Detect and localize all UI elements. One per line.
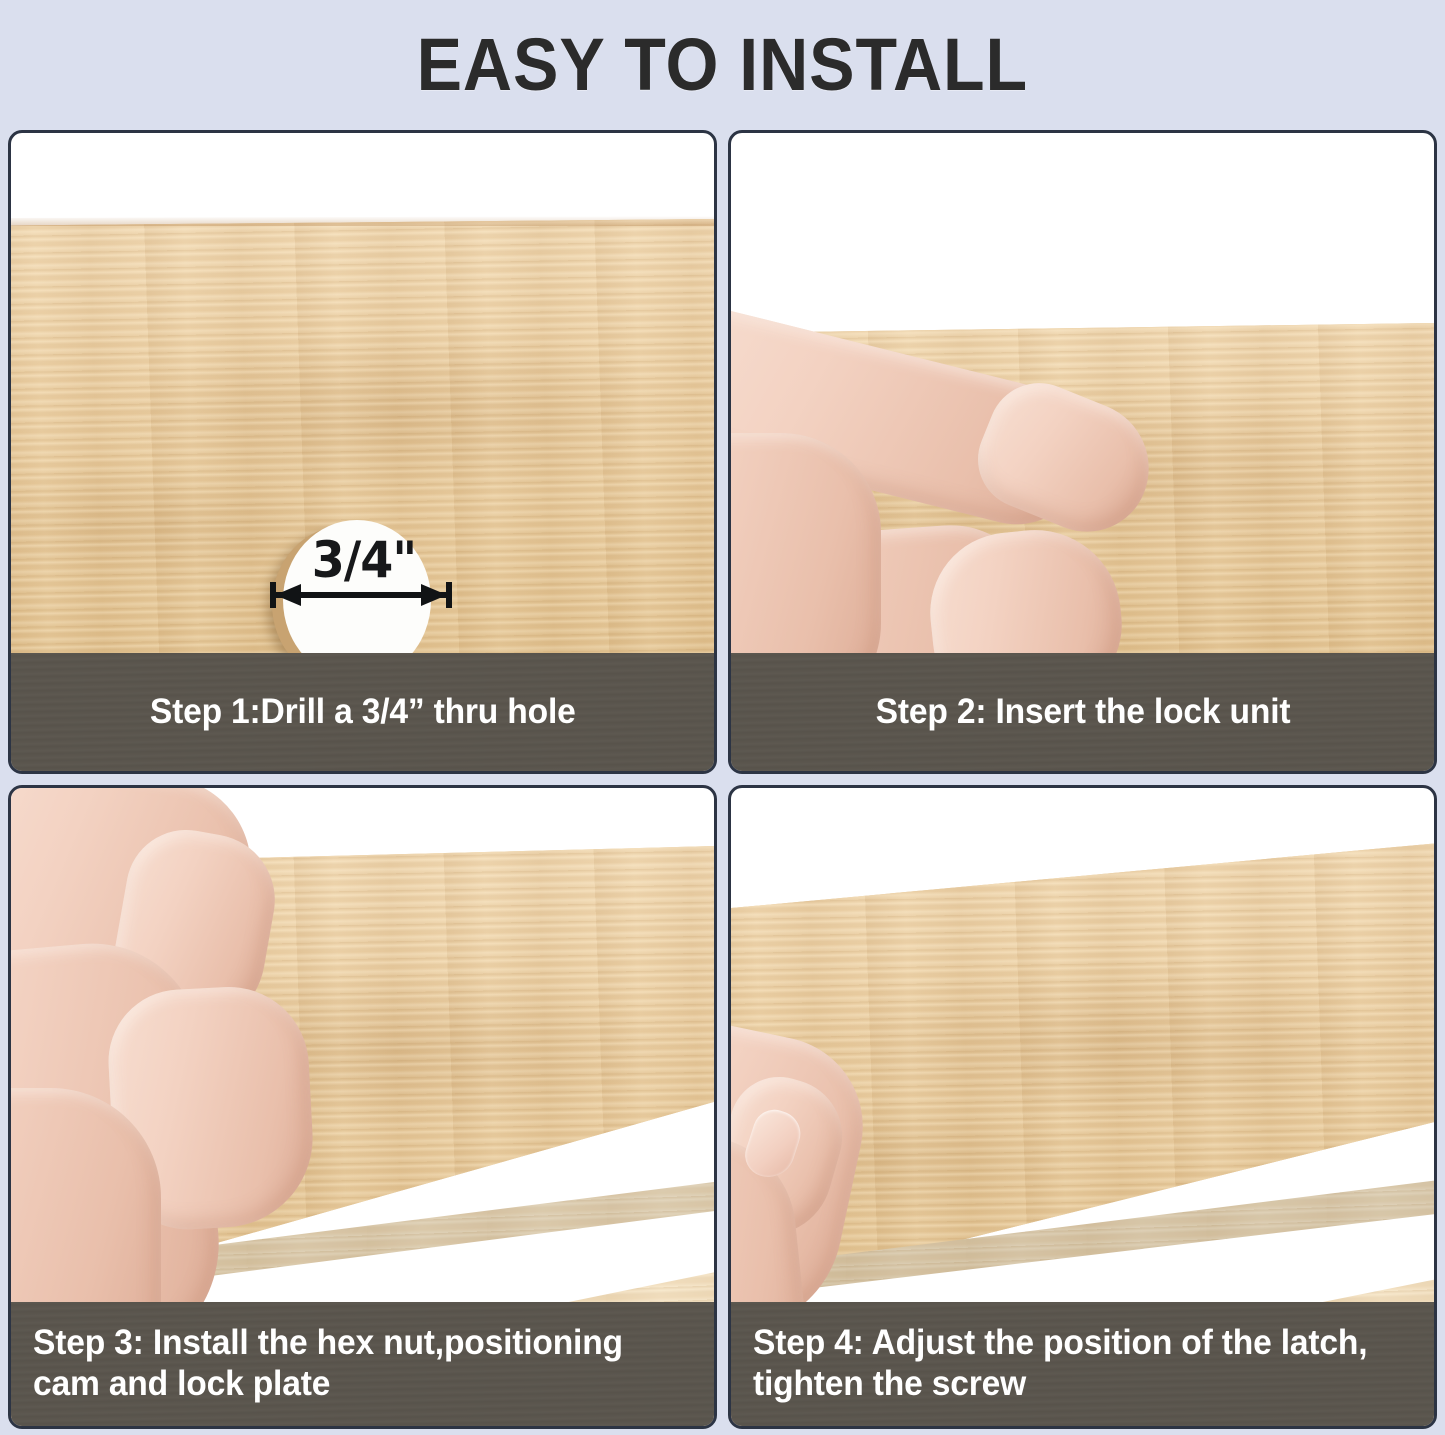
step-3-caption-text: Step 3: Install the hex nut,positioning … <box>33 1323 623 1404</box>
page-title: EASY TO INSTALL <box>417 28 1028 102</box>
hole-diameter-label: 3/4" <box>312 531 416 589</box>
step-1-caption-text: Step 1:Drill a 3/4” thru hole <box>150 692 576 733</box>
install-steps-grid: 3/4" Step 1:Drill a 3/4” thru hole <box>8 130 1437 1429</box>
step-panel-3: Step 3: Install the hex nut,positioning … <box>8 785 717 1429</box>
step-1-caption-band: Step 1:Drill a 3/4” thru hole <box>11 653 714 771</box>
page-header: EASY TO INSTALL <box>0 0 1445 130</box>
step-2-caption-band: Step 2: Insert the lock unit <box>731 653 1434 771</box>
wood-board-top-edge <box>11 216 714 226</box>
step-panel-4: Step 4: Adjust the position of the latch… <box>728 785 1437 1429</box>
step-panel-1: 3/4" Step 1:Drill a 3/4” thru hole <box>8 130 717 774</box>
step-2-caption-text: Step 2: Insert the lock unit <box>875 692 1290 733</box>
step-3-caption-band: Step 3: Install the hex nut,positioning … <box>11 1302 714 1426</box>
step-4-caption-text: Step 4: Adjust the position of the latch… <box>753 1323 1367 1404</box>
step-4-caption-band: Step 4: Adjust the position of the latch… <box>731 1302 1434 1426</box>
step-panel-2: Step 2: Insert the lock unit <box>728 130 1437 774</box>
